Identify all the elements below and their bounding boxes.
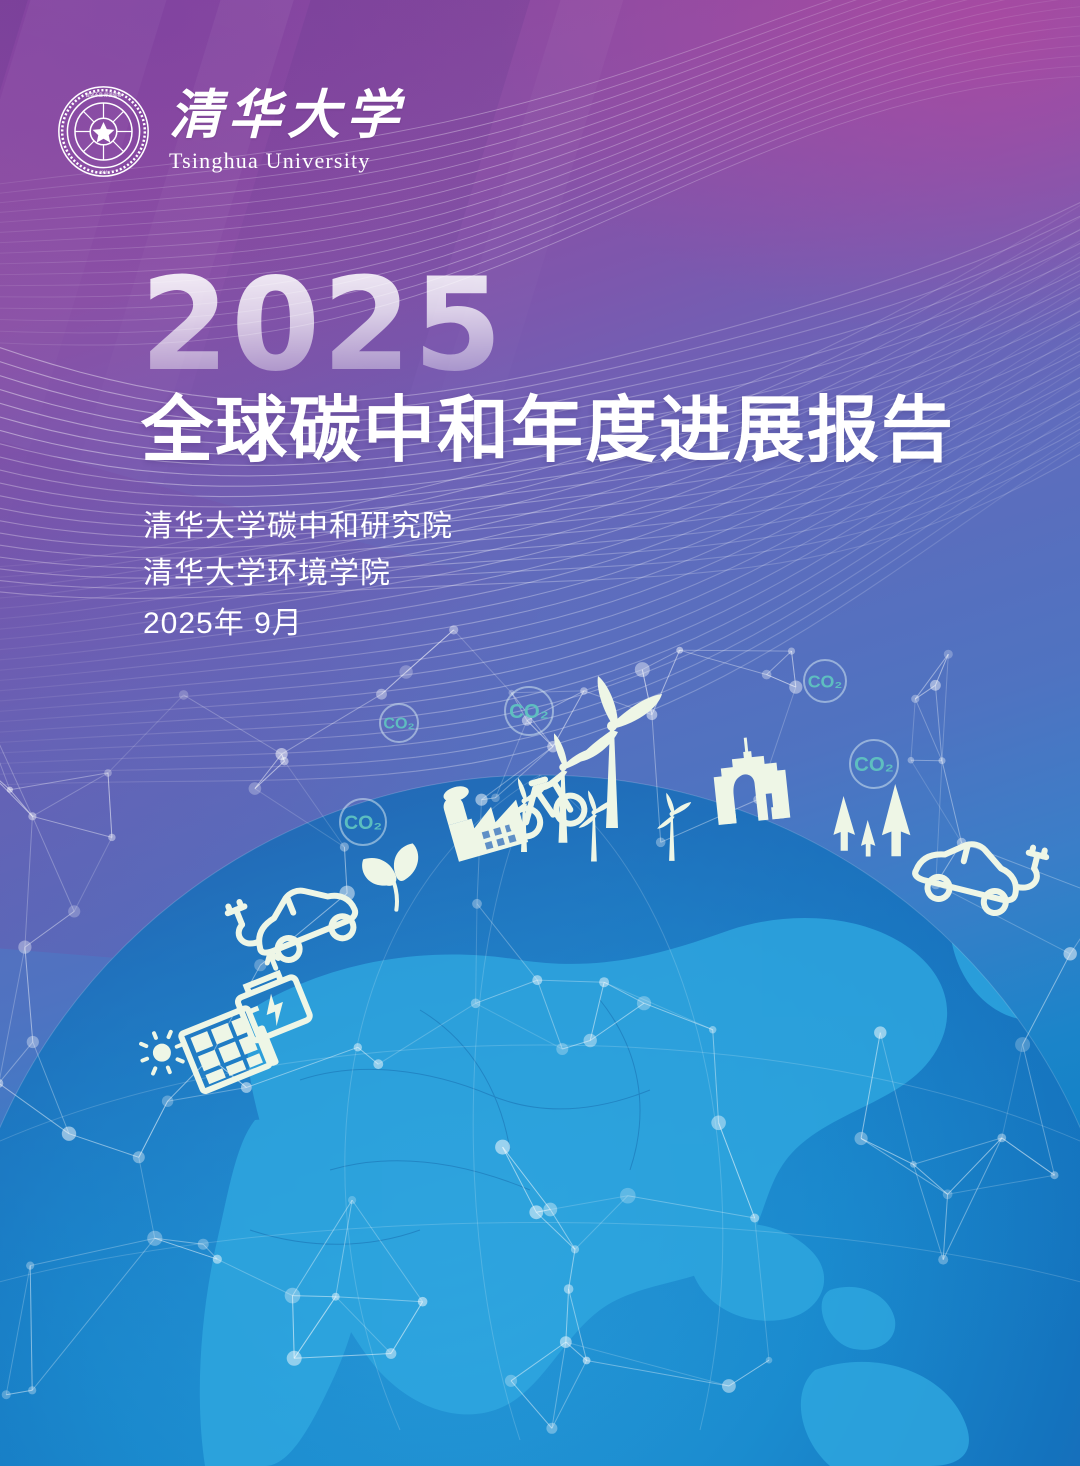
solar-panel-icon: [135, 994, 280, 1111]
tsinghua-university-logo: 自强不息 厚德载物 1911 清华大学 Tsinghua University: [56, 84, 405, 179]
seal-top-text: 自强不息 厚德载物: [86, 91, 123, 98]
co2-bubble-label: CO₂: [383, 715, 414, 733]
icon-row: CO₂CO₂CO₂CO₂CO₂: [0, 0, 1080, 1466]
co2-bubble: CO₂: [340, 799, 386, 845]
cover-subtitle: 清华大学碳中和研究院 清华大学环境学院 2025年 9月: [143, 503, 453, 647]
battery-charging-icon: [225, 948, 311, 1042]
logo-english-name: Tsinghua University: [169, 148, 405, 174]
city-arch-icon: [710, 734, 790, 825]
co2-bubble-label: CO₂: [509, 701, 549, 723]
co2-bubble-label: CO₂: [854, 754, 894, 776]
subtitle-date: 2025年 9月: [143, 600, 453, 647]
report-cover: CO₂CO₂CO₂CO₂CO₂: [0, 0, 1080, 1466]
tsinghua-seal-icon: 自强不息 厚德载物 1911: [56, 84, 151, 179]
flowing-mesh-decoration: [0, 0, 1080, 1466]
bicycle-icon: [503, 771, 588, 839]
co2-bubble-label: CO₂: [344, 812, 382, 834]
electric-car-plug-icon: [910, 821, 1047, 922]
co2-bubbles: CO₂CO₂CO₂CO₂CO₂: [340, 660, 898, 845]
co2-bubble: CO₂: [505, 687, 553, 735]
wind-turbine-icon: [508, 676, 691, 861]
globe-illustration: [0, 0, 1080, 1466]
subtitle-institute-line2: 清华大学环境学院: [143, 550, 453, 597]
factory-icon: [439, 772, 528, 862]
cover-year: 2025: [140, 262, 504, 390]
co2-bubble: CO₂: [850, 740, 898, 788]
co2-bubble: CO₂: [380, 704, 418, 742]
seal-year-text: 1911: [99, 169, 108, 174]
co2-bubble-label: CO₂: [808, 671, 843, 691]
page-title: 全球碳中和年度进展报告: [141, 392, 955, 471]
tree-icon: [833, 784, 910, 856]
bottom-gradient-overlay: [0, 846, 1080, 1466]
electric-car-icon: [226, 863, 364, 975]
co2-bubble: CO₂: [804, 660, 846, 702]
leaf-icon: [359, 843, 432, 916]
logo-chinese-name: 清华大学: [169, 89, 405, 145]
subtitle-institute-line1: 清华大学碳中和研究院: [143, 503, 453, 550]
